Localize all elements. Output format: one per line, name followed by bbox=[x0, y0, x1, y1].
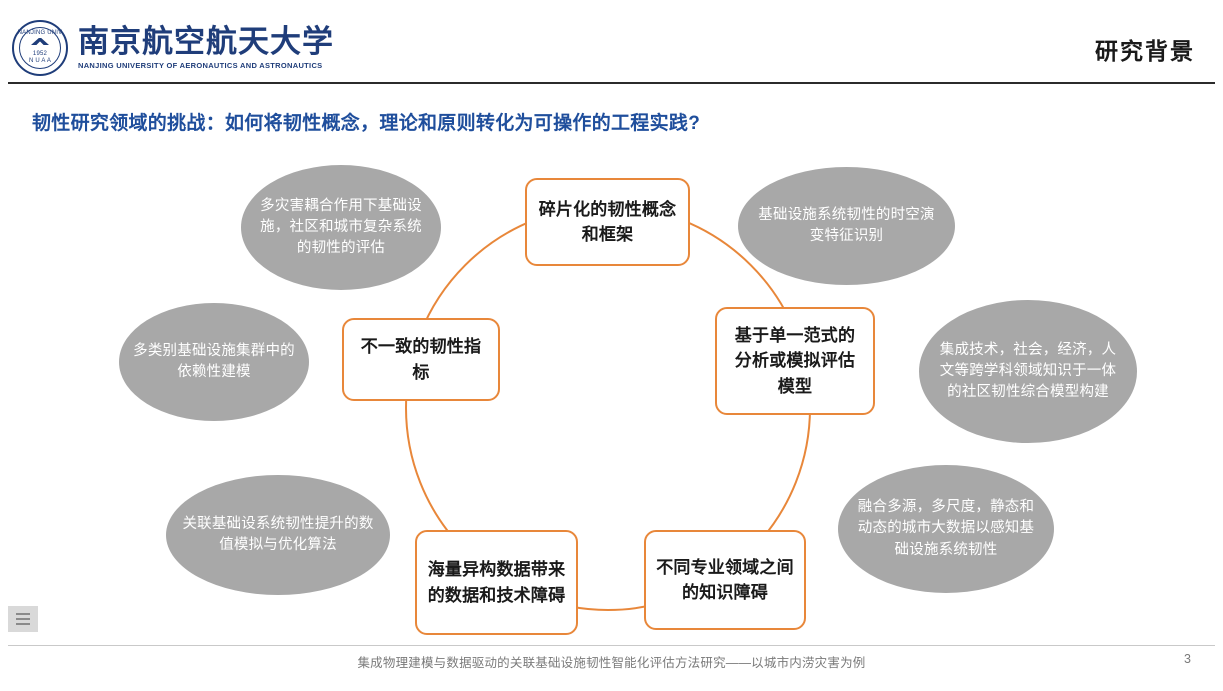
logo-chinese-name: 南京航空航天大学 bbox=[78, 26, 334, 59]
slide-sorter-icon[interactable] bbox=[8, 606, 38, 632]
footer-divider bbox=[8, 645, 1215, 646]
seal-top-text: NANJING UNIV bbox=[18, 30, 63, 38]
slide-header: NANJING UNIV 1952 N U A A 南京航空航天大学 NANJI… bbox=[0, 0, 1223, 84]
slide: NANJING UNIV 1952 N U A A 南京航空航天大学 NANJI… bbox=[0, 0, 1223, 691]
seal-mark-icon bbox=[31, 38, 49, 50]
logo-english-name: NANJING UNIVERSITY OF AERONAUTICS AND AS… bbox=[78, 61, 334, 70]
university-logo: NANJING UNIV 1952 N U A A 南京航空航天大学 NANJI… bbox=[12, 20, 334, 76]
diagram-canvas: 多灾害耦合作用下基础设施，社区和城市复杂系统的韧性的评估 基础设施系统韧性的时空… bbox=[0, 140, 1223, 650]
seal-year-text: 1952 bbox=[33, 51, 47, 59]
university-seal-icon: NANJING UNIV 1952 N U A A bbox=[12, 20, 68, 76]
header-divider bbox=[8, 82, 1215, 84]
ellipse-spatiotemporal-evolution: 基础设施系统韧性的时空演变特征识别 bbox=[738, 167, 955, 285]
box-single-paradigm-model: 基于单一范式的分析或模拟评估模型 bbox=[715, 307, 875, 415]
box-inconsistent-resilience-metrics: 不一致的韧性指标 bbox=[342, 318, 500, 401]
box-cross-domain-knowledge-barrier: 不同专业领域之间的知识障碍 bbox=[644, 530, 806, 630]
box-massive-heterogeneous-data: 海量异构数据带来的数据和技术障碍 bbox=[415, 530, 578, 635]
ellipse-numerical-simulation-optimization: 关联基础设系统韧性提升的数值模拟与优化算法 bbox=[166, 475, 390, 595]
page-number: 3 bbox=[1184, 652, 1191, 666]
seal-bottom-text: N U A A bbox=[29, 58, 51, 66]
ellipse-multi-category-dependency: 多类别基础设施集群中的依赖性建模 bbox=[119, 303, 309, 421]
logo-text: 南京航空航天大学 NANJING UNIVERSITY OF AERONAUTI… bbox=[78, 26, 334, 71]
box-fragmented-resilience-concept: 碎片化的韧性概念和框架 bbox=[525, 178, 690, 266]
page-title: 研究背景 bbox=[1095, 32, 1195, 66]
ellipse-integrated-community-model: 集成技术，社会，经济，人文等跨学科领域知识于一体的社区韧性综合模型构建 bbox=[919, 300, 1137, 443]
footer-text: 集成物理建模与数据驱动的关联基础设施韧性智能化评估方法研究——以城市内涝灾害为例 bbox=[0, 652, 1223, 671]
ellipse-multi-source-big-data: 融合多源，多尺度，静态和动态的城市大数据以感知基础设施系统韧性 bbox=[838, 465, 1054, 593]
section-question: 韧性研究领域的挑战：如何将韧性概念，理论和原则转化为可操作的工程实践? bbox=[32, 108, 700, 135]
ellipse-multi-hazard-coupling: 多灾害耦合作用下基础设施，社区和城市复杂系统的韧性的评估 bbox=[241, 165, 441, 290]
